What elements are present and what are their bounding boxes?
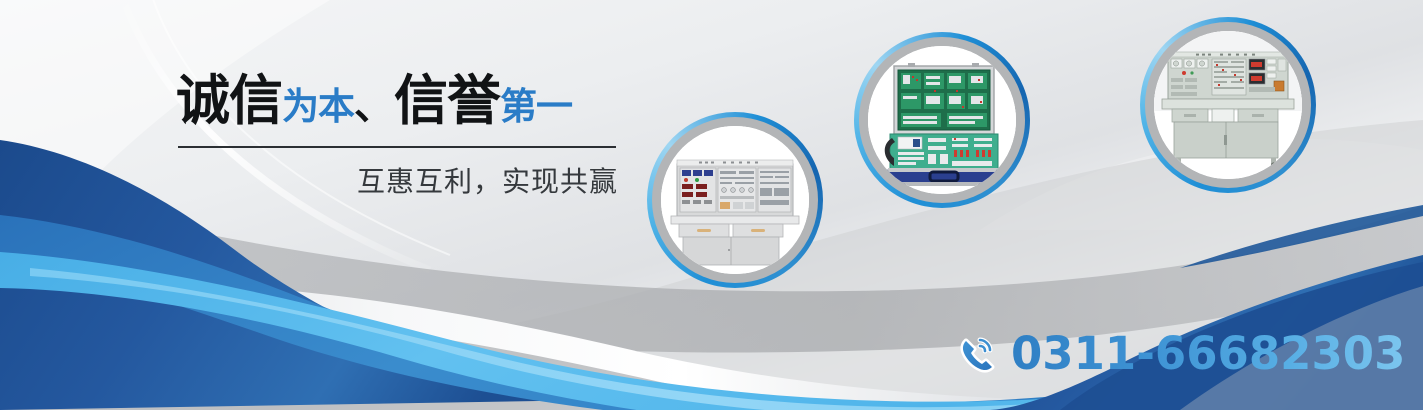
- product-image-electrical-machinery-test-bench[interactable]: [1154, 31, 1302, 179]
- product-image-electrical-training-workbench[interactable]: [661, 126, 809, 274]
- promotional-banner: 诚信为本、信誉第一 互惠互利，实现共赢: [0, 0, 1423, 410]
- product-image-portable-electronics-training-case[interactable]: [868, 46, 1016, 194]
- headline-part-4: 第一: [500, 85, 572, 128]
- phone-number[interactable]: 0311-66682303: [1011, 327, 1405, 380]
- subtitle: 互惠互利，实现共赢: [176, 160, 618, 200]
- headline-part-2: 为本: [282, 85, 354, 128]
- contact-block[interactable]: 0311-66682303 0311-66682303: [955, 327, 1405, 380]
- title-divider: [178, 146, 616, 148]
- headline-separator: 、: [354, 83, 394, 129]
- page-title: 诚信为本、信誉第一: [176, 74, 621, 128]
- headline-block: 诚信为本、信誉第一: [176, 74, 621, 128]
- headline-part-3: 信誉: [394, 69, 500, 132]
- phone-call-icon: [955, 332, 999, 376]
- headline-part-1: 诚信: [176, 69, 282, 132]
